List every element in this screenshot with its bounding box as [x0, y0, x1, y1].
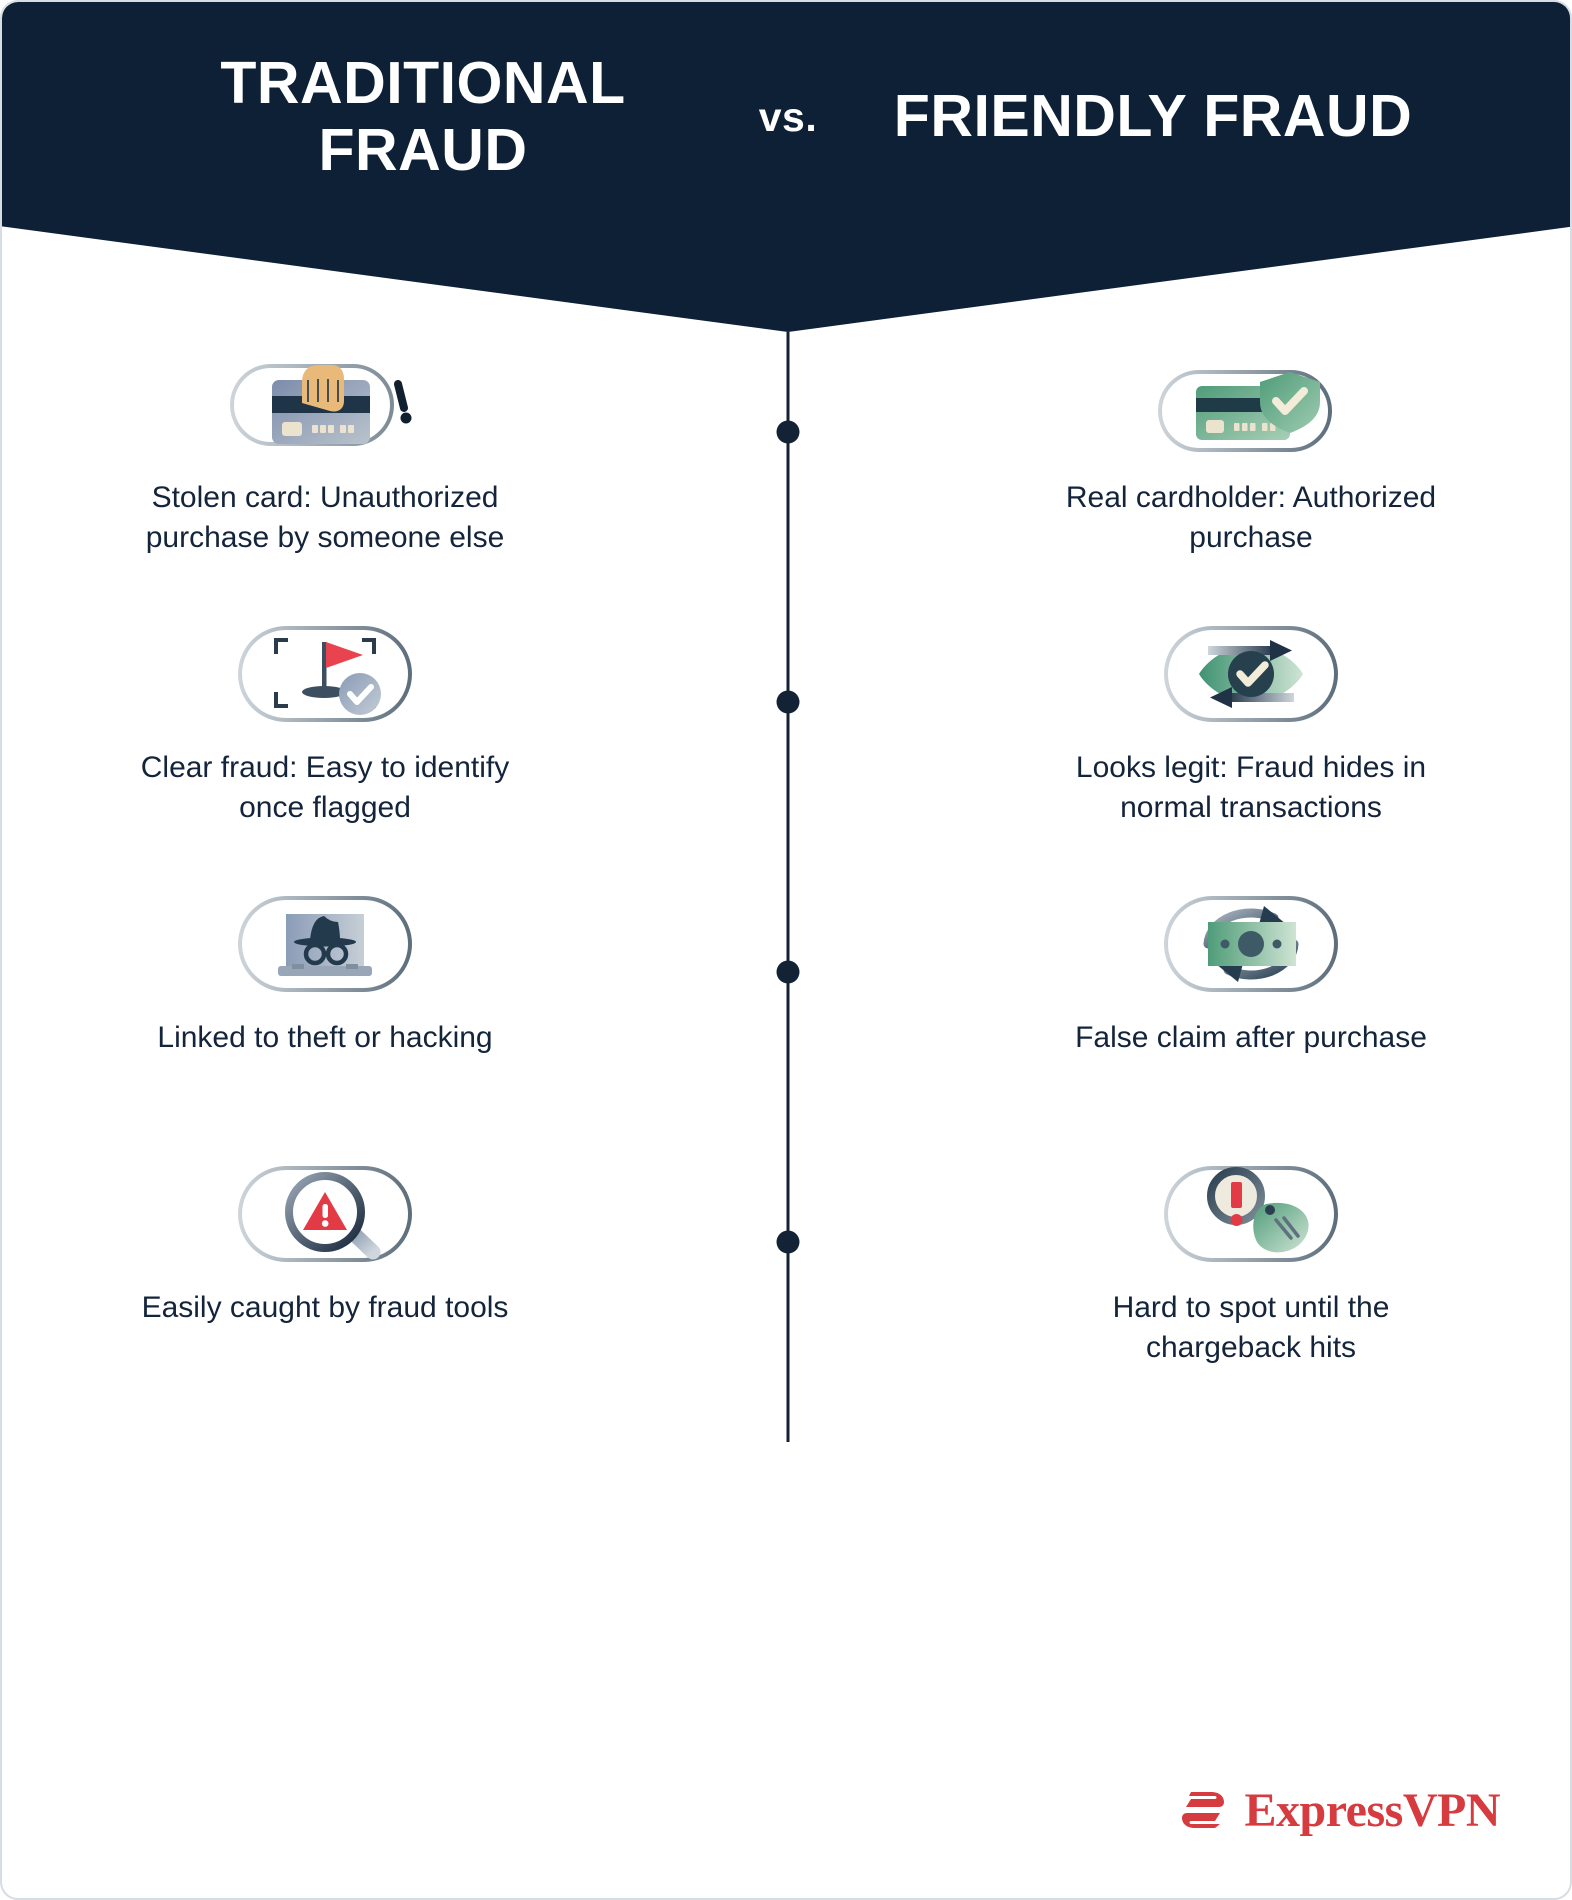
timeline-dot-2	[777, 691, 800, 714]
left-row-1: Stolen card: Unauthorized purchase by so…	[2, 332, 648, 602]
header-titles: Traditional Fraud vs. Friendly Fraud	[2, 2, 1572, 232]
right-row-1: Real cardholder: Authorized purchase	[928, 332, 1572, 602]
right-caption-2: Looks legit: Fraud hides in normal trans…	[1031, 748, 1471, 827]
right-caption-4: Hard to spot until the chargeback hits	[1031, 1288, 1471, 1367]
magnifier-warning-icon	[220, 1154, 430, 1274]
left-caption-1: Stolen card: Unauthorized purchase by so…	[105, 478, 545, 557]
left-row-4: Easily caught by fraud tools	[2, 1142, 648, 1412]
left-caption-3: Linked to theft or hacking	[105, 1018, 545, 1058]
infographic-root: Traditional Fraud vs. Friendly Fraud	[0, 0, 1572, 1900]
header-banner: Traditional Fraud vs. Friendly Fraud	[2, 2, 1572, 332]
right-caption-3: False claim after purchase	[1031, 1018, 1471, 1058]
left-caption-4: Easily caught by fraud tools	[105, 1288, 545, 1328]
right-caption-1: Real cardholder: Authorized purchase	[1031, 478, 1471, 557]
brand-name: ExpressVPN	[1245, 1783, 1500, 1838]
incognito-laptop-hacker-icon	[220, 884, 430, 1004]
right-row-2: Looks legit: Fraud hides in normal trans…	[928, 602, 1572, 872]
comparison-body: Stolen card: Unauthorized purchase by so…	[2, 332, 1572, 1682]
verified-credit-card-shield-icon	[1146, 344, 1356, 464]
timeline-dot-1	[777, 421, 800, 444]
money-refund-cycle-icon	[1146, 884, 1356, 1004]
left-caption-2: Clear fraud: Easy to identify once flagg…	[105, 748, 545, 827]
magnifier-exclamation-tag-icon	[1146, 1154, 1356, 1274]
timeline-dot-4	[777, 1231, 800, 1254]
brand-logo: ExpressVPN	[1175, 1782, 1500, 1838]
traditional-fraud-column: Stolen card: Unauthorized purchase by so…	[2, 332, 648, 1682]
center-timeline	[648, 332, 928, 1682]
friendly-fraud-column: Real cardholder: Authorized purchase	[928, 332, 1572, 1682]
left-row-2: Clear fraud: Easy to identify once flagg…	[2, 602, 648, 872]
timeline-dot-3	[777, 961, 800, 984]
right-row-3: False claim after purchase	[928, 872, 1572, 1142]
header-left-title: Traditional Fraud	[138, 50, 708, 185]
timeline-line	[787, 332, 790, 1442]
stolen-credit-card-icon	[220, 344, 430, 464]
red-flag-detected-icon	[220, 614, 430, 734]
eye-verified-transaction-icon	[1146, 614, 1356, 734]
right-row-4: Hard to spot until the chargeback hits	[928, 1142, 1572, 1412]
header-right-title: Friendly Fraud	[868, 83, 1438, 150]
expressvpn-logo-icon	[1175, 1782, 1231, 1838]
header-vs-label: vs.	[708, 94, 868, 141]
left-row-3: Linked to theft or hacking	[2, 872, 648, 1142]
